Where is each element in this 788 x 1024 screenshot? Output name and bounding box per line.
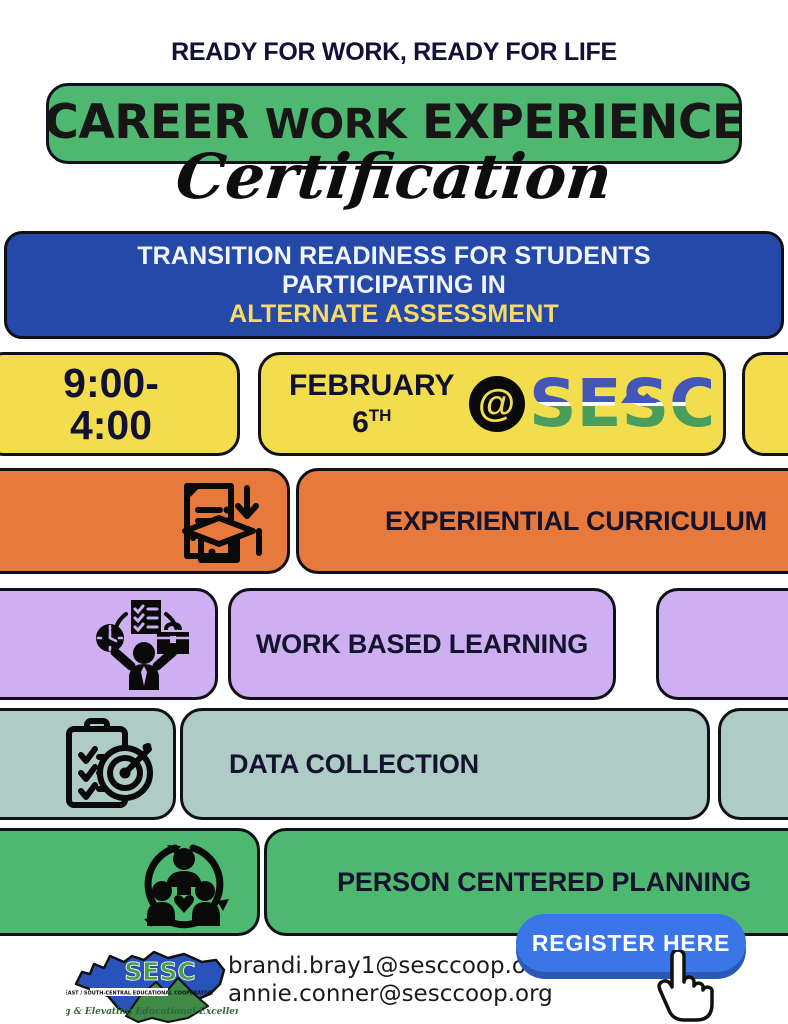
transition-readiness-banner: TRANSITION READINESS FOR STUDENTS PARTIC… — [4, 231, 784, 339]
sesc-org-logo: SESC SOUTHEAST / SOUTH-CENTRAL EDUCATION… — [66, 940, 238, 1024]
data-collection-row: DATA COLLECTION — [0, 708, 788, 820]
person-career-skills-icon — [93, 596, 195, 692]
date-location-cell: FEBRUARY 6TH @ — [258, 352, 726, 456]
work-based-learning-row: WORK BASED LEARNING — [0, 588, 788, 700]
people-cycle-heart-icon — [131, 831, 237, 933]
experiential-curriculum-row: EXPERIENTIAL CURRICULUM — [0, 468, 788, 574]
hand-cursor-icon — [654, 950, 714, 1024]
logo-acronym: SESC — [124, 957, 195, 986]
topic-label-1: WORK BASED LEARNING — [256, 629, 588, 660]
details-row: 9:00- 4:00 FEBRUARY 6TH @ — [0, 352, 788, 456]
event-day: 6 — [352, 406, 369, 439]
contact-email-1[interactable]: brandi.bray1@sesccoop.org — [228, 952, 553, 980]
clipboard-target-icon — [55, 715, 159, 813]
data-collection-icon-cell — [0, 708, 176, 820]
topic-label-3: PERSON CENTERED PLANNING — [337, 867, 751, 898]
person-centered-planning-icon-cell — [0, 828, 260, 936]
data-collection-filler-cell — [718, 708, 788, 820]
banner-line-3: ALTERNATE ASSESSMENT — [229, 300, 559, 329]
banner-line-2: PARTICIPATING IN — [282, 271, 506, 300]
footer: SESC SOUTHEAST / SOUTH-CENTRAL EDUCATION… — [0, 936, 788, 1024]
event-time-line-2: 4:00 — [63, 404, 159, 446]
experiential-curriculum-icon-cell — [0, 468, 290, 574]
work-based-learning-filler-cell — [656, 588, 788, 700]
flyer-poster: READY FOR WORK, READY FOR LIFE CAREER WO… — [0, 0, 788, 1024]
document-graduation-cap-icon — [167, 474, 271, 568]
contact-email-2[interactable]: annie.conner@sesccoop.org — [228, 980, 553, 1008]
work-based-learning-icon-cell — [0, 588, 218, 700]
logo-subtitle: SOUTHEAST / SOUTH-CENTRAL EDUCATIONAL CO… — [66, 991, 214, 997]
work-based-learning-cell: WORK BASED LEARNING — [228, 588, 616, 700]
experiential-curriculum-cell: EXPERIENTIAL CURRICULUM — [296, 468, 788, 574]
event-month: FEBRUARY — [289, 371, 455, 401]
event-date: FEBRUARY 6TH — [289, 371, 455, 438]
event-time: 9:00- 4:00 — [63, 362, 159, 446]
tagline: READY FOR WORK, READY FOR LIFE — [0, 38, 788, 67]
sesc-wordmark: SESC — [529, 369, 711, 439]
sesc-logo-icon: SESC — [529, 369, 711, 439]
event-day-wrap: 6TH — [289, 401, 455, 438]
event-time-line-1: 9:00- — [63, 362, 159, 404]
logo-tagline: Empowering & Elevating Educational Excel… — [66, 1007, 238, 1017]
date-row-filler-cell — [742, 352, 788, 456]
banner-line-1: TRANSITION READINESS FOR STUDENTS — [137, 242, 651, 271]
event-day-suffix: TH — [369, 406, 392, 425]
data-collection-cell: DATA COLLECTION — [180, 708, 710, 820]
time-cell: 9:00- 4:00 — [0, 352, 240, 456]
svg-text:SESC: SESC — [529, 369, 711, 439]
title-script-certification: Certification — [0, 140, 788, 213]
topic-label-2: DATA COLLECTION — [229, 749, 479, 780]
topic-label-0: EXPERIENTIAL CURRICULUM — [385, 506, 767, 537]
contact-emails: brandi.bray1@sesccoop.org annie.conner@s… — [228, 952, 553, 1008]
at-symbol-icon: @ — [469, 376, 525, 432]
